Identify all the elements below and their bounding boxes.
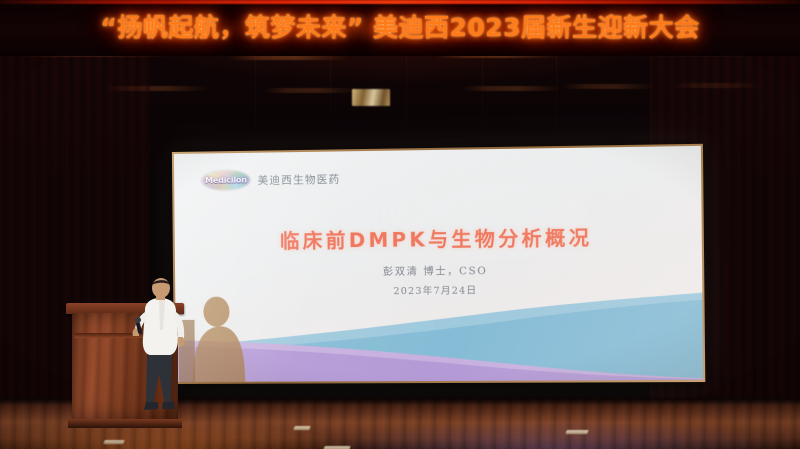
floor-marker (293, 426, 310, 430)
slide-wave-graphic (175, 286, 703, 382)
slide-logo: Medicilon 美迪西生物医药 (201, 169, 340, 191)
projection-screen: Medicilon 美迪西生物医药 临床前DMPK与生物分析概况 彭双清 博士，… (172, 144, 705, 384)
slide-title: 临床前DMPK与生物分析概况 (175, 220, 702, 255)
presentation-slide: Medicilon 美迪西生物医药 临床前DMPK与生物分析概况 彭双清 博士，… (174, 146, 703, 382)
floor-marker (103, 440, 124, 444)
led-banner: “扬帆起航，筑梦未来” 美迪西2023届新生迎新大会 (0, 0, 800, 56)
logo-company-name-cn: 美迪西生物医药 (258, 171, 341, 187)
medicilon-logo-icon: Medicilon (201, 170, 250, 191)
floor-marker (565, 430, 588, 434)
screen-frame: Medicilon 美迪西生物医药 临床前DMPK与生物分析概况 彭双清 博士，… (172, 144, 705, 384)
banner-title-text: “扬帆起航，筑梦未来” 美迪西2023届新生迎新大会 (0, 0, 800, 52)
presentation-scene-photo: “扬帆起航，筑梦未来” 美迪西2023届新生迎新大会 Medicilon 美迪西… (0, 0, 800, 449)
slide-author: 彭双清 博士，CSO (175, 259, 702, 279)
house-light-fixture (352, 89, 390, 106)
logo-wordmark: Medicilon (201, 175, 250, 185)
speaker-person (125, 278, 201, 426)
